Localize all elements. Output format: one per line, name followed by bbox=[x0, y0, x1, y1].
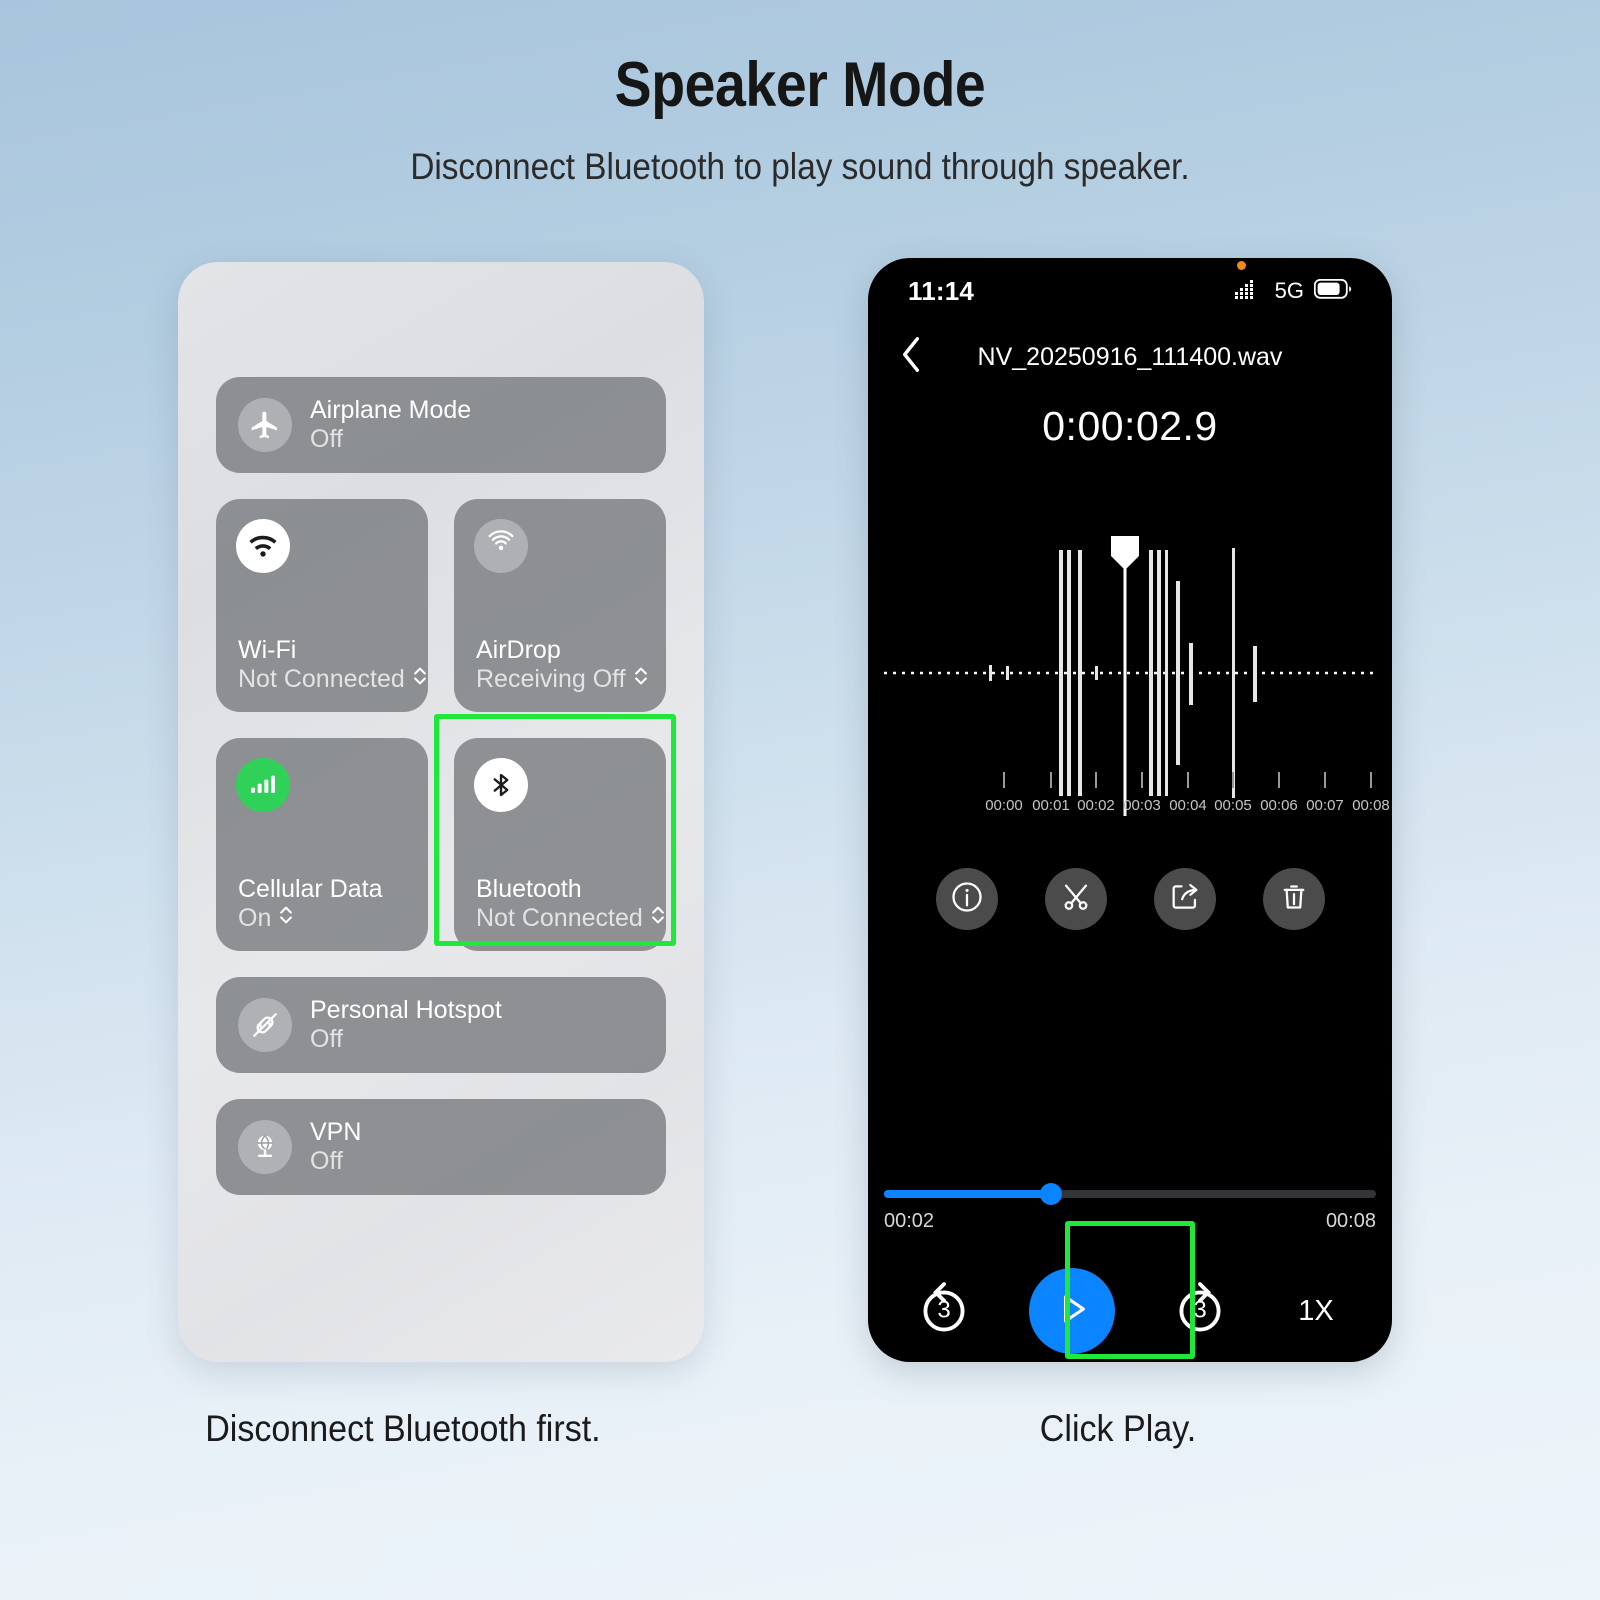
chevron-updown-icon[interactable] bbox=[412, 665, 428, 694]
tick-label: 00:04 bbox=[1169, 797, 1207, 814]
tick-label: 00:05 bbox=[1214, 797, 1252, 814]
trash-icon bbox=[1277, 880, 1311, 919]
trim-button[interactable] bbox=[1045, 868, 1107, 930]
tile-status: Not Connected bbox=[238, 665, 405, 694]
tile-wifi[interactable]: Wi-Fi Not Connected bbox=[216, 499, 428, 712]
transport-controls: 3 3 1X bbox=[868, 1268, 1392, 1354]
tile-bluetooth[interactable]: Bluetooth Not Connected bbox=[454, 738, 666, 951]
status-bar-right: 5G bbox=[1235, 278, 1352, 305]
airplane-icon bbox=[238, 398, 292, 452]
status-bar-time: 11:14 bbox=[908, 276, 974, 307]
tick-label: 00:00 bbox=[985, 797, 1023, 814]
control-center-panel: Airplane Mode Off Wi-Fi Not Connected bbox=[178, 262, 704, 1362]
hotspot-off-icon bbox=[238, 998, 292, 1052]
tile-label: Airplane Mode bbox=[310, 396, 471, 425]
battery-icon bbox=[1314, 279, 1352, 304]
wifi-icon bbox=[236, 519, 290, 573]
tick-label: 00:03 bbox=[1123, 797, 1161, 814]
caption-right: Click Play. bbox=[1040, 1408, 1196, 1450]
back-button[interactable] bbox=[900, 336, 922, 379]
signal-bars-icon bbox=[1235, 278, 1265, 305]
playback-progress: 00:02 00:08 bbox=[868, 1190, 1392, 1233]
tile-wifi-labels: Wi-Fi Not Connected bbox=[238, 636, 428, 694]
tick-label: 00:07 bbox=[1306, 797, 1344, 814]
tile-status-row: Not Connected bbox=[476, 904, 666, 933]
progress-knob[interactable] bbox=[1040, 1183, 1062, 1205]
share-icon bbox=[1168, 880, 1202, 919]
share-button[interactable] bbox=[1154, 868, 1216, 930]
progress-slider[interactable] bbox=[884, 1190, 1376, 1198]
tile-airplane-mode[interactable]: Airplane Mode Off bbox=[216, 377, 666, 473]
row-wifi-airdrop: Wi-Fi Not Connected bbox=[216, 499, 666, 712]
info-button[interactable] bbox=[936, 868, 998, 930]
tile-vpn[interactable]: VPN Off bbox=[216, 1099, 666, 1195]
network-type-label: 5G bbox=[1275, 278, 1304, 304]
rewind-3s-button[interactable]: 3 bbox=[913, 1280, 975, 1342]
voice-recorder-phone: 11:14 5G bbox=[868, 258, 1392, 1362]
chevron-updown-icon[interactable] bbox=[278, 904, 294, 933]
tile-status: Off bbox=[310, 1147, 361, 1176]
elapsed-time: 0:00:02.9 bbox=[868, 403, 1392, 450]
tick-label: 00:01 bbox=[1032, 797, 1070, 814]
cellular-bars-icon bbox=[236, 758, 290, 812]
caption-left: Disconnect Bluetooth first. bbox=[205, 1408, 600, 1450]
tile-personal-hotspot[interactable]: Personal Hotspot Off bbox=[216, 977, 666, 1073]
tile-status: Off bbox=[310, 1025, 502, 1054]
file-name-label: NV_20250916_111400.wav bbox=[868, 343, 1392, 372]
tile-cellular-labels: Cellular Data On bbox=[238, 875, 383, 933]
tile-label: Bluetooth bbox=[476, 875, 666, 904]
tile-status: On bbox=[238, 904, 271, 933]
tile-label: Cellular Data bbox=[238, 875, 383, 904]
delete-button[interactable] bbox=[1263, 868, 1325, 930]
chevron-updown-icon[interactable] bbox=[650, 904, 666, 933]
page-subtitle: Disconnect Bluetooth to play sound throu… bbox=[80, 146, 1520, 188]
chevron-updown-icon[interactable] bbox=[633, 665, 649, 694]
tick-label: 00:06 bbox=[1260, 797, 1298, 814]
timeline-ruler: 00:00 00:01 00:02 00:03 00:04 00:05 00:0… bbox=[868, 766, 1392, 826]
rewind-seconds-label: 3 bbox=[913, 1296, 975, 1324]
tile-cellular-data[interactable]: Cellular Data On bbox=[216, 738, 428, 951]
tile-label: AirDrop bbox=[476, 636, 649, 665]
tile-status-row: Not Connected bbox=[238, 665, 428, 694]
status-bar: 11:14 5G bbox=[868, 258, 1392, 324]
nav-bar: NV_20250916_111400.wav bbox=[868, 324, 1392, 390]
row-cellular-bluetooth: Cellular Data On bbox=[216, 738, 666, 951]
vpn-globe-icon bbox=[238, 1120, 292, 1174]
page-title: Speaker Mode bbox=[96, 52, 1504, 118]
tile-status: Not Connected bbox=[476, 904, 643, 933]
tile-status: Receiving Off bbox=[476, 665, 626, 694]
progress-fill bbox=[884, 1190, 1051, 1198]
play-icon bbox=[1050, 1287, 1094, 1336]
tile-label: Wi-Fi bbox=[238, 636, 428, 665]
tile-status-row: On bbox=[238, 904, 383, 933]
action-button-row bbox=[868, 868, 1392, 930]
scissors-icon bbox=[1059, 880, 1093, 919]
tick-label: 00:08 bbox=[1352, 797, 1390, 814]
tile-airdrop[interactable]: AirDrop Receiving Off bbox=[454, 499, 666, 712]
tick-label: 00:02 bbox=[1077, 797, 1115, 814]
forward-3s-button[interactable]: 3 bbox=[1169, 1280, 1231, 1342]
total-time-label: 00:08 bbox=[1326, 1210, 1376, 1233]
forward-seconds-label: 3 bbox=[1169, 1296, 1231, 1324]
info-icon bbox=[949, 879, 985, 920]
airdrop-icon bbox=[474, 519, 528, 573]
bluetooth-icon bbox=[474, 758, 528, 812]
tile-label: VPN bbox=[310, 1118, 361, 1147]
tile-airdrop-labels: AirDrop Receiving Off bbox=[476, 636, 649, 694]
tile-status-row: Receiving Off bbox=[476, 665, 649, 694]
tile-status: Off bbox=[310, 425, 471, 454]
orange-indicator-dot bbox=[1237, 261, 1246, 270]
tile-bluetooth-labels: Bluetooth Not Connected bbox=[476, 875, 666, 933]
play-button[interactable] bbox=[1029, 1268, 1115, 1354]
current-time-label: 00:02 bbox=[884, 1210, 934, 1233]
page-header: Speaker Mode Disconnect Bluetooth to pla… bbox=[0, 52, 1600, 188]
tile-label: Personal Hotspot bbox=[310, 996, 502, 1025]
playback-speed-button[interactable]: 1X bbox=[1285, 1295, 1347, 1328]
progress-times: 00:02 00:08 bbox=[882, 1210, 1378, 1233]
